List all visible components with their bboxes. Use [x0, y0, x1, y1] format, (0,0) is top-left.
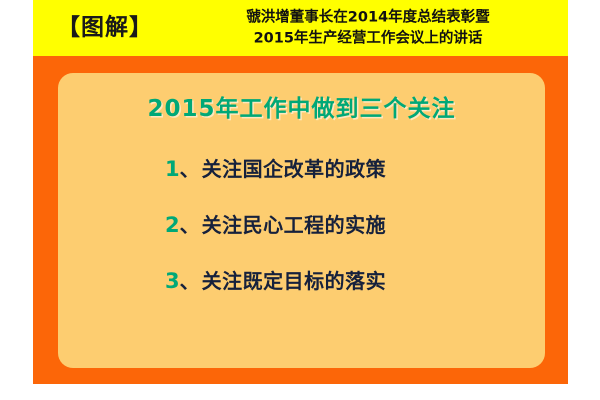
header-tag-label: 【图解】	[57, 17, 153, 40]
list-item-separator: 、	[180, 215, 200, 235]
list-item: 1 、 关注国企改革的政策	[58, 159, 545, 215]
list-item-number: 1	[165, 159, 180, 180]
panel-title: 2015年工作中做到三个关注	[58, 89, 545, 123]
header-band: 【图解】 虢洪增董事长在2014年度总结表彰暨 2015年生产经营工作会议上的讲…	[33, 0, 568, 56]
list-item-text: 关注民心工程的实施	[202, 215, 387, 235]
list-item-text: 关注既定目标的落实	[202, 271, 387, 291]
slide-canvas: 【图解】 虢洪增董事长在2014年度总结表彰暨 2015年生产经营工作会议上的讲…	[0, 0, 600, 400]
list-item-number: 2	[165, 215, 180, 236]
list-item-separator: 、	[180, 159, 200, 179]
header-title: 虢洪增董事长在2014年度总结表彰暨 2015年生产经营工作会议上的讲话	[183, 7, 553, 48]
list-item: 2 、 关注民心工程的实施	[58, 215, 545, 271]
list-item: 3 、 关注既定目标的落实	[58, 271, 545, 327]
list-item-number: 3	[165, 271, 180, 292]
list-item-text: 关注国企改革的政策	[202, 159, 387, 179]
list-item-separator: 、	[180, 271, 200, 291]
header-title-line-1: 虢洪增董事长在2014年度总结表彰暨	[183, 7, 553, 28]
header-title-line-2: 2015年生产经营工作会议上的讲话	[183, 28, 553, 49]
point-list: 1 、 关注国企改革的政策 2 、 关注民心工程的实施 3 、 关注既定目标的落…	[58, 159, 545, 327]
content-panel: 2015年工作中做到三个关注 1 、 关注国企改革的政策 2 、 关注民心工程的…	[58, 73, 545, 368]
